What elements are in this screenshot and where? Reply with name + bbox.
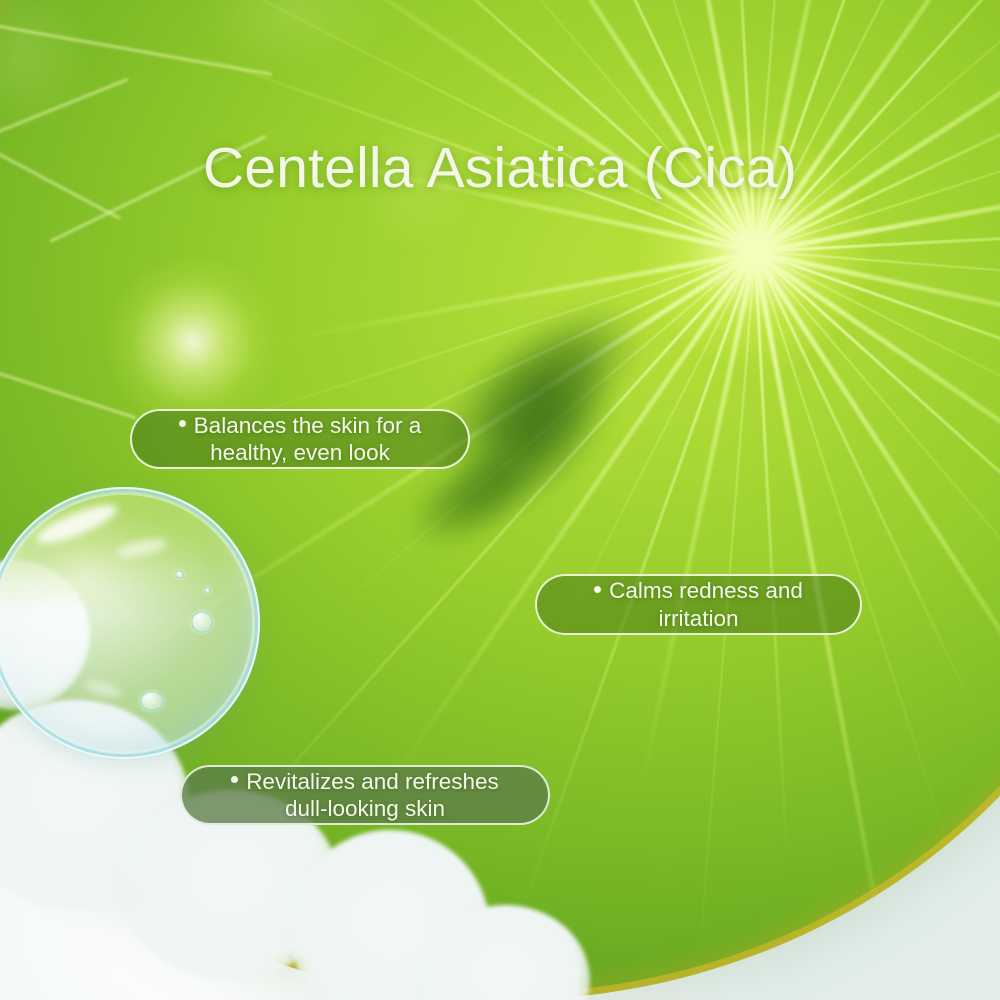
- product-ingredient-banner: Centella Asiatica (Cica) Balances the sk…: [0, 0, 1000, 1000]
- benefit-line-2: healthy, even look: [179, 439, 422, 466]
- leaf-vein: [753, 251, 1000, 856]
- bullet-icon: [231, 776, 238, 783]
- benefit-pill-calms: Calms redness and irritation: [535, 574, 862, 635]
- benefit-pill-revitalizes: Revitalizes and refreshes dull-looking s…: [180, 765, 550, 825]
- page-title: Centella Asiatica (Cica): [0, 135, 1000, 201]
- benefit-line-2: dull-looking skin: [231, 795, 499, 822]
- mini-bubble: [191, 611, 213, 633]
- benefit-line-2: irritation: [594, 605, 803, 632]
- bubble-rim: [0, 487, 260, 759]
- benefit-pill-balances: Balances the skin for a healthy, even lo…: [130, 409, 470, 469]
- mini-bubble: [140, 691, 164, 711]
- benefit-line-1: Balances the skin for a: [179, 412, 422, 439]
- bullet-icon: [594, 586, 601, 593]
- benefit-line-1: Revitalizes and refreshes: [231, 768, 499, 795]
- benefit-line-1: Calms redness and: [594, 577, 803, 604]
- mini-bubble: [175, 570, 184, 579]
- water-bubble: [0, 487, 260, 759]
- bullet-icon: [179, 420, 186, 427]
- mini-bubble: [204, 587, 211, 594]
